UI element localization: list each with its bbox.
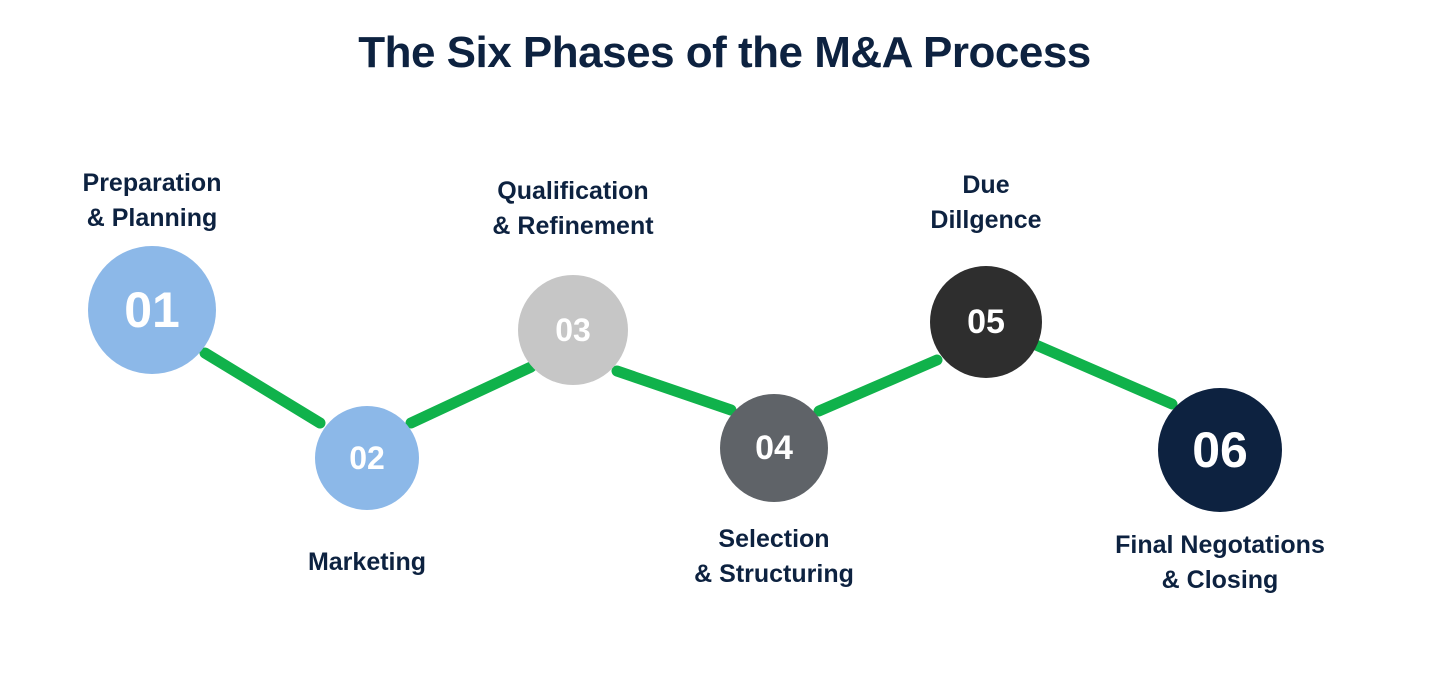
node-label-03: Qualification & Refinement (383, 174, 763, 243)
node-circle-04[interactable]: 04 (720, 394, 828, 502)
node-label-04: Selection & Structuring (584, 522, 964, 591)
node-label-01: Preparation & Planning (0, 166, 332, 235)
connector-phase-03-to-phase-04 (617, 371, 731, 410)
connector-phase-01-to-phase-02 (205, 353, 320, 423)
node-label-02: Marketing (187, 545, 547, 580)
node-circle-01[interactable]: 01 (88, 246, 216, 374)
node-circle-02[interactable]: 02 (315, 406, 419, 510)
connector-phase-05-to-phase-06 (1036, 345, 1172, 404)
connector-phase-02-to-phase-03 (411, 367, 531, 423)
connector-phase-04-to-phase-05 (819, 360, 937, 411)
node-circle-06[interactable]: 06 (1158, 388, 1282, 512)
node-label-05: Due Dillgence (816, 168, 1156, 237)
node-circle-05[interactable]: 05 (930, 266, 1042, 378)
node-label-06: Final Negotations & Closing (1000, 528, 1440, 597)
node-circle-03[interactable]: 03 (518, 275, 628, 385)
diagram-canvas: The Six Phases of the M&A Process 01Prep… (0, 0, 1449, 700)
